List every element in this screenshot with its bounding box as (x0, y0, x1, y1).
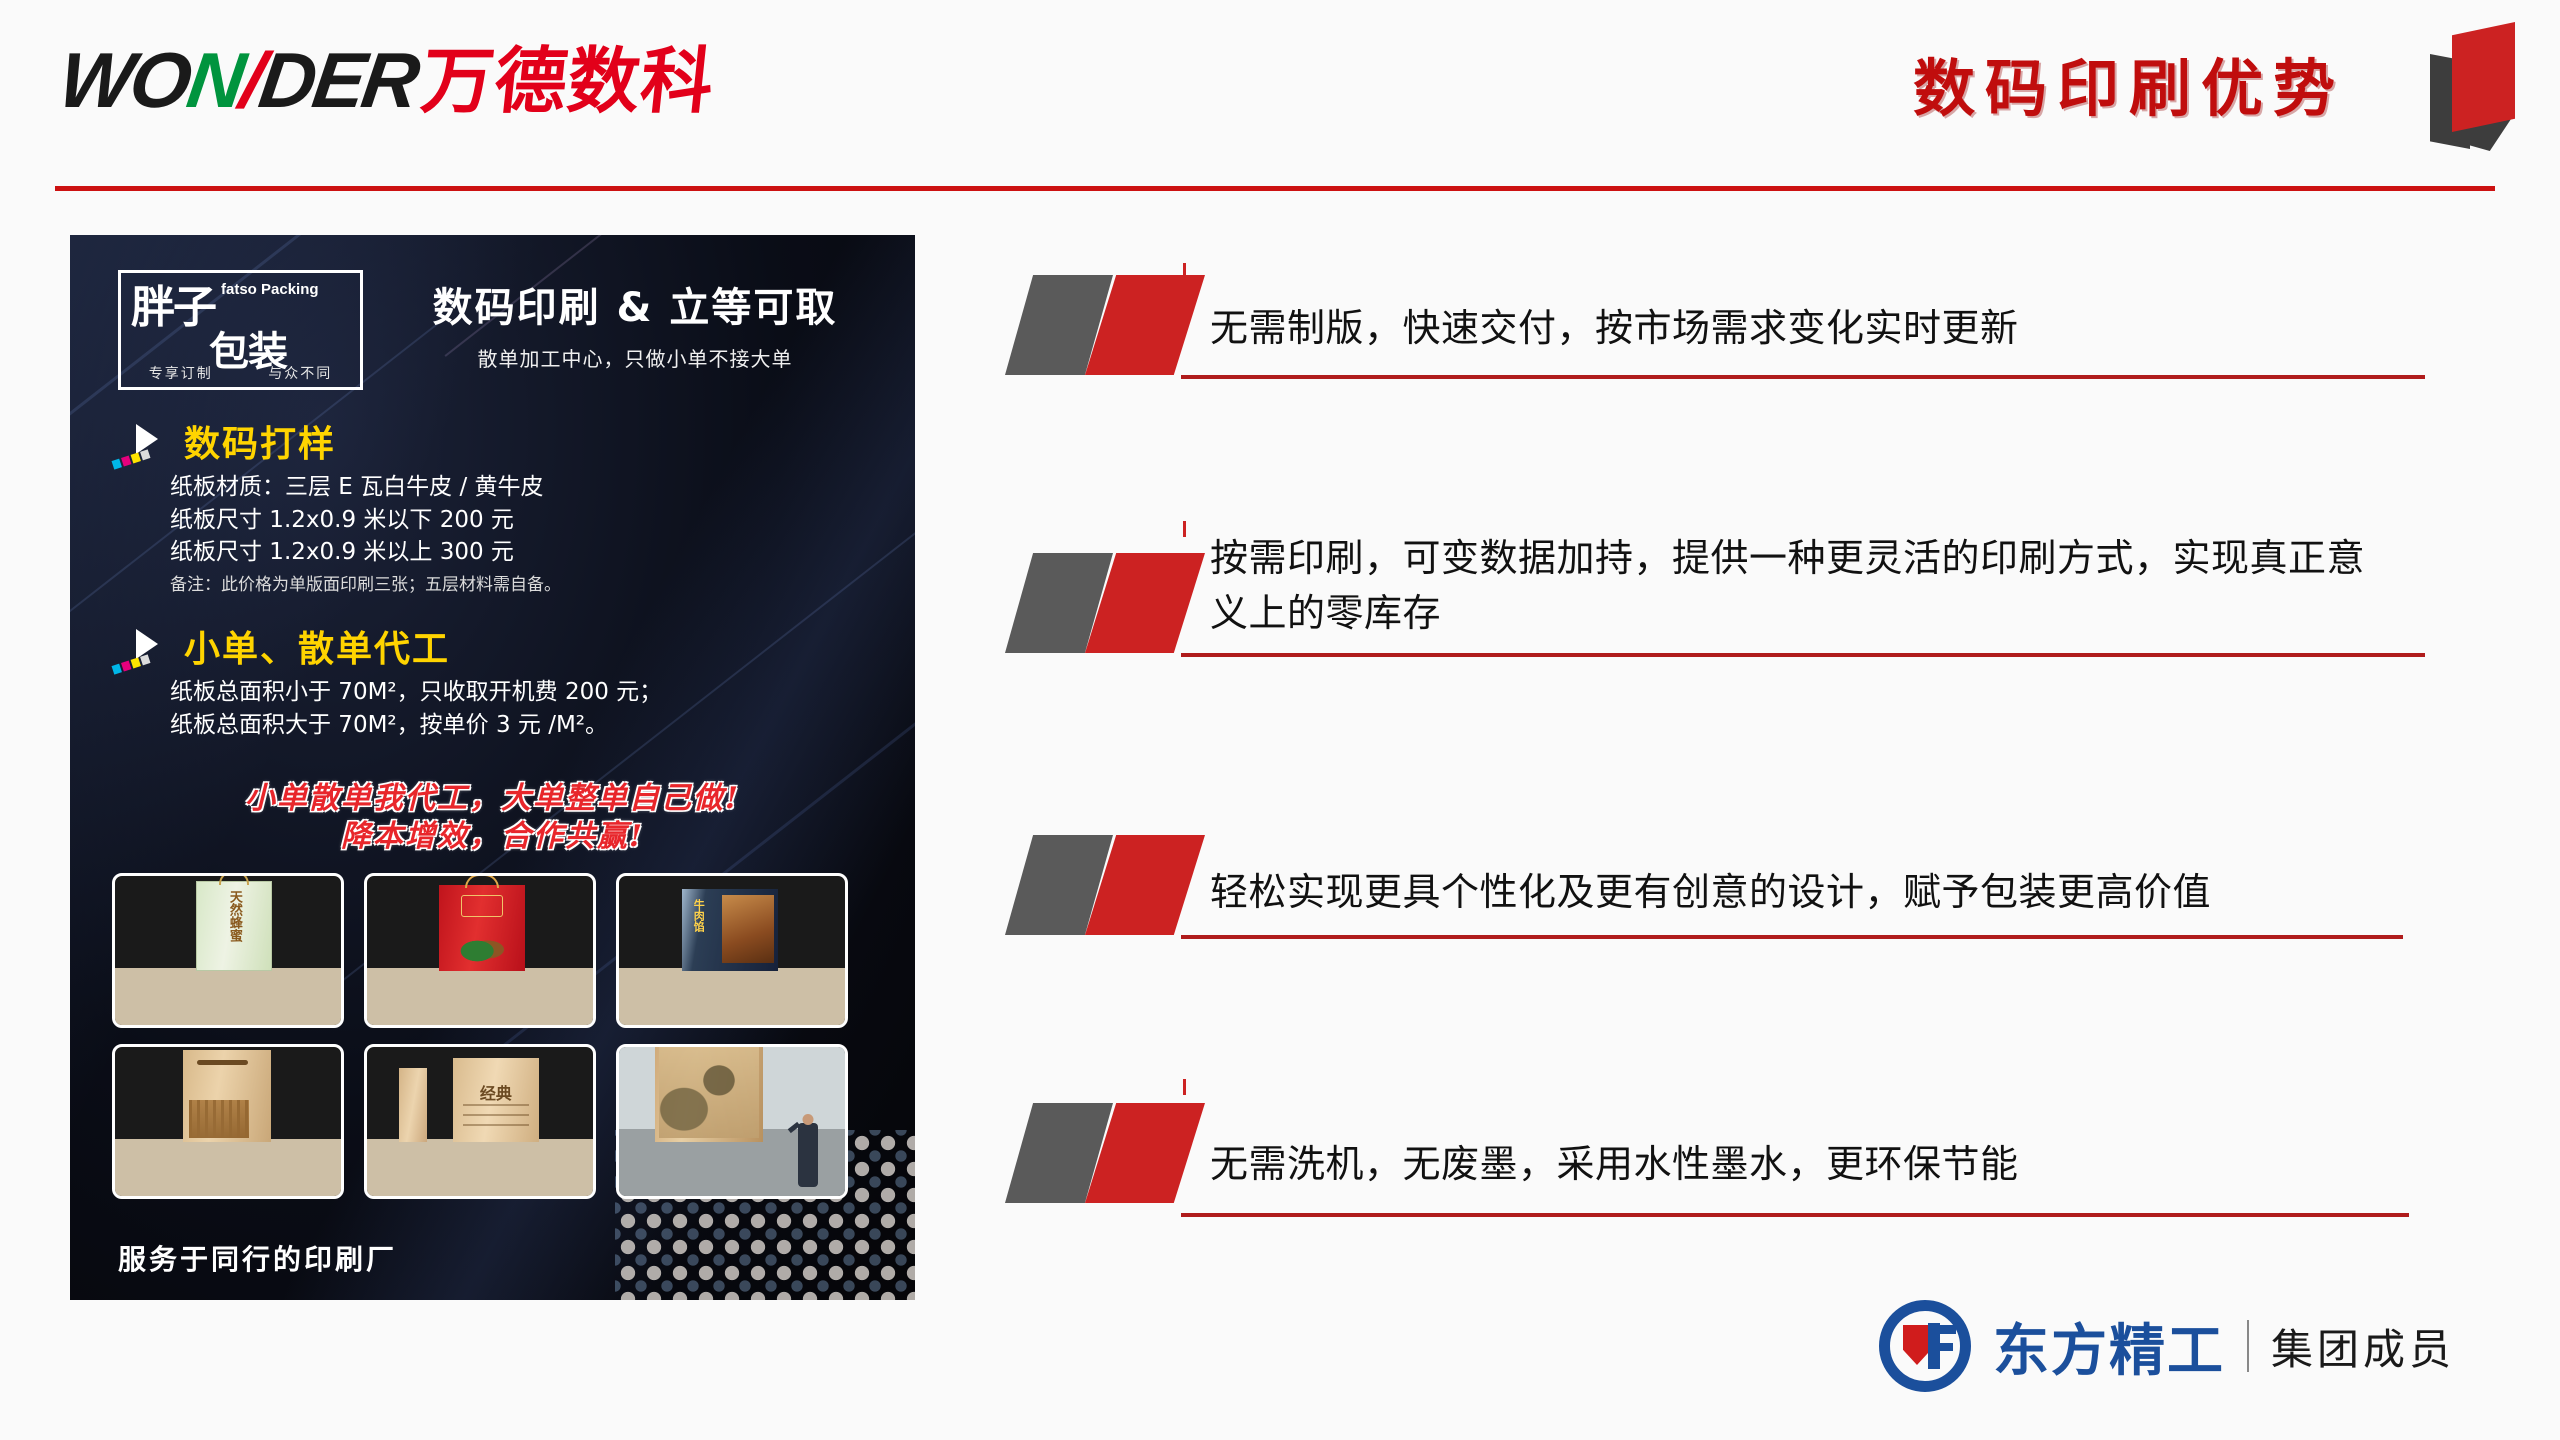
bullet-body: 轻松实现更具个性化及更有创意的设计，赋予包装更高价值 (1210, 835, 2425, 928)
chevron-arrow-icon (112, 623, 170, 669)
photo-floor (115, 968, 341, 1025)
cmyk-dots-icon (112, 654, 151, 674)
slogan-line-1: 小单散单我代工，大单整单自己做! (70, 780, 915, 818)
photo-floor (115, 1139, 341, 1196)
photo-floor (367, 968, 593, 1025)
kraft-classic-boxes-photo: 经典 (364, 1044, 596, 1199)
poster-footer-text: 服务于同行的印刷厂 (118, 1238, 397, 1278)
box-artwork (189, 1100, 249, 1138)
box-label: 天然蜂蜜 (225, 890, 244, 942)
section-line: 纸板总面积小于 70M²，只收取开机费 200 元； (170, 676, 662, 709)
fatso-logo-en: fatso Packing (221, 281, 319, 298)
photo-floor (367, 1139, 593, 1196)
poster-section-digital-proofing: 数码打样 纸板材质：三层 E 瓦白牛皮 / 黄牛皮 纸板尺寸 1.2x0.9 米… (112, 415, 561, 597)
advantage-item-4: 无需洗机，无废墨，采用水性墨水，更环保节能 (1005, 1103, 2425, 1283)
box-seal (461, 895, 503, 917)
poster-headline: 数码印刷 & 立等可取 (400, 275, 870, 333)
bullet-text: 按需印刷，可变数据加持，提供一种更灵活的印刷方式，实现真正意义上的零库存 (1210, 525, 2390, 642)
box-handle (219, 873, 249, 885)
section-line: 纸板材质：三层 E 瓦白牛皮 / 黄牛皮 (170, 471, 561, 504)
bullet-marks (1005, 275, 1210, 375)
beef-pie-carton-photo: 牛肉馅 (616, 873, 848, 1028)
bullet-tick (1183, 1079, 1186, 1095)
product-box: 经典 (453, 1058, 539, 1142)
person-figure (798, 1123, 818, 1187)
box-label: 牛肉馅 (690, 899, 706, 932)
section-detail-lines: 纸板材质：三层 E 瓦白牛皮 / 黄牛皮 纸板尺寸 1.2x0.9 米以下 20… (170, 471, 561, 597)
wonder-brand-logo: WON/DER 万德数科 (60, 45, 714, 115)
section-title-row: 数码打样 (112, 415, 561, 467)
wonder-wordmark: WON/DER (55, 45, 421, 115)
dongfang-emblem-icon (1879, 1300, 1971, 1392)
bullet-underline (1181, 935, 2403, 939)
promo-poster-image: 胖子 fatso Packing 包装 专享订制 与众不同 数码印刷 & 立等可… (70, 235, 915, 1300)
bullet-underline (1181, 1213, 2409, 1217)
logo-divider (2247, 1320, 2249, 1372)
advantage-item-1: 无需制版，快速交付，按市场需求变化实时更新 (1005, 275, 2425, 455)
product-box (655, 1044, 763, 1142)
bullet-text: 轻松实现更具个性化及更有创意的设计，赋予包装更高价值 (1210, 835, 2425, 920)
slide-canvas: WON/DER 万德数科 数码印刷优势 胖子 fatso Packing 包装 … (0, 0, 2560, 1440)
section-line: 纸板尺寸 1.2x0.9 米以下 200 元 (170, 504, 561, 537)
wonder-wordmark-part2: DER (254, 36, 422, 124)
dongfang-jingong-logo: 东方精工 集团成员 (1879, 1300, 2455, 1392)
product-box (439, 885, 525, 971)
chevron-arrow-icon (112, 418, 170, 464)
section-line: 纸板总面积大于 70M²，按单价 3 元 /M²。 (170, 709, 662, 742)
wonder-wordmark-part1: WO (54, 36, 195, 124)
box-handle (465, 874, 499, 888)
bullet-marks (1005, 835, 1210, 935)
wonder-brand-cn: 万德数科 (418, 47, 717, 115)
bullet-marks (1005, 553, 1210, 653)
cmyk-dots-icon (112, 449, 151, 469)
box-artwork (722, 895, 774, 963)
fatso-tagline-right: 与众不同 (268, 363, 332, 383)
red-gift-box-photo (364, 873, 596, 1028)
bullet-text: 无需制版，快速交付，按市场需求变化实时更新 (1210, 275, 2425, 356)
product-box: 牛肉馅 (682, 889, 778, 971)
bullet-marks (1005, 1103, 1210, 1203)
poster-slogan: 小单散单我代工，大单整单自己做! 降本增效，合作共赢! (70, 780, 915, 855)
section-name: 数码打样 (184, 415, 336, 467)
section-note: 备注：此价格为单版面印刷三张；五层材料需自备。 (170, 573, 561, 597)
corner-geometric-mark-icon (2412, 8, 2532, 153)
fatso-logo-cn: 胖子 (131, 288, 215, 328)
section-line: 纸板尺寸 1.2x0.9 米以上 300 元 (170, 536, 561, 569)
product-box: 天然蜂蜜 (196, 881, 272, 971)
fatso-logo-taglines: 专享订制 与众不同 (121, 363, 360, 383)
product-box (183, 1050, 271, 1142)
bullet-underline (1181, 375, 2425, 379)
poster-section-small-order-oem: 小单、散单代工 纸板总面积小于 70M²，只收取开机费 200 元； 纸板总面积… (112, 620, 662, 741)
section-detail-lines: 纸板总面积小于 70M²，只收取开机费 200 元； 纸板总面积大于 70M²，… (170, 676, 662, 741)
product-box-small (399, 1068, 427, 1142)
kraft-carton-photo (112, 1044, 344, 1199)
page-title: 数码印刷优势 (1913, 38, 2345, 128)
group-member-label: 集团成员 (2271, 1316, 2455, 1377)
large-kraft-carton-photo (616, 1044, 848, 1199)
fatso-packing-logo: 胖子 fatso Packing 包装 专享订制 与众不同 (118, 270, 363, 390)
advantage-item-3: 轻松实现更具个性化及更有创意的设计，赋予包装更高价值 (1005, 835, 2425, 1015)
box-artwork (659, 1044, 759, 1138)
section-name: 小单、散单代工 (184, 620, 450, 672)
bullet-body: 无需制版，快速交付，按市场需求变化实时更新 (1210, 275, 2425, 364)
section-title-row: 小单、散单代工 (112, 620, 662, 672)
slogan-line-2: 降本增效，合作共赢! (70, 818, 915, 856)
honey-gift-box-photo: 天然蜂蜜 (112, 873, 344, 1028)
box-label: 经典 (480, 1080, 512, 1104)
mark-red-panel (2452, 22, 2515, 132)
photo-floor (619, 968, 845, 1025)
poster-headline-block: 数码印刷 & 立等可取 散单加工中心，只做小单不接大单 (400, 275, 870, 372)
product-photo-grid: 天然蜂蜜 牛肉馅 (112, 873, 848, 1199)
box-handle-slit (197, 1060, 248, 1065)
advantage-item-2: 按需印刷，可变数据加持，提供一种更灵活的印刷方式，实现真正意义上的零库存 (1005, 525, 2425, 755)
fatso-tagline-left: 专享订制 (149, 363, 213, 383)
box-artwork (458, 933, 506, 963)
header-divider (55, 186, 2495, 191)
bullet-tick (1183, 521, 1186, 537)
emblem-shield (1903, 1325, 1931, 1365)
emblem-f-mark (1928, 1323, 1940, 1369)
bullet-body: 按需印刷，可变数据加持，提供一种更灵活的印刷方式，实现真正意义上的零库存 (1210, 525, 2425, 650)
group-company-name: 东方精工 (1993, 1306, 2225, 1387)
bullet-underline (1181, 653, 2425, 657)
bullet-body: 无需洗机，无废墨，采用水性墨水，更环保节能 (1210, 1103, 2425, 1200)
bullet-text: 无需洗机，无废墨，采用水性墨水，更环保节能 (1210, 1103, 2425, 1192)
poster-subheadline: 散单加工中心，只做小单不接大单 (400, 343, 870, 372)
